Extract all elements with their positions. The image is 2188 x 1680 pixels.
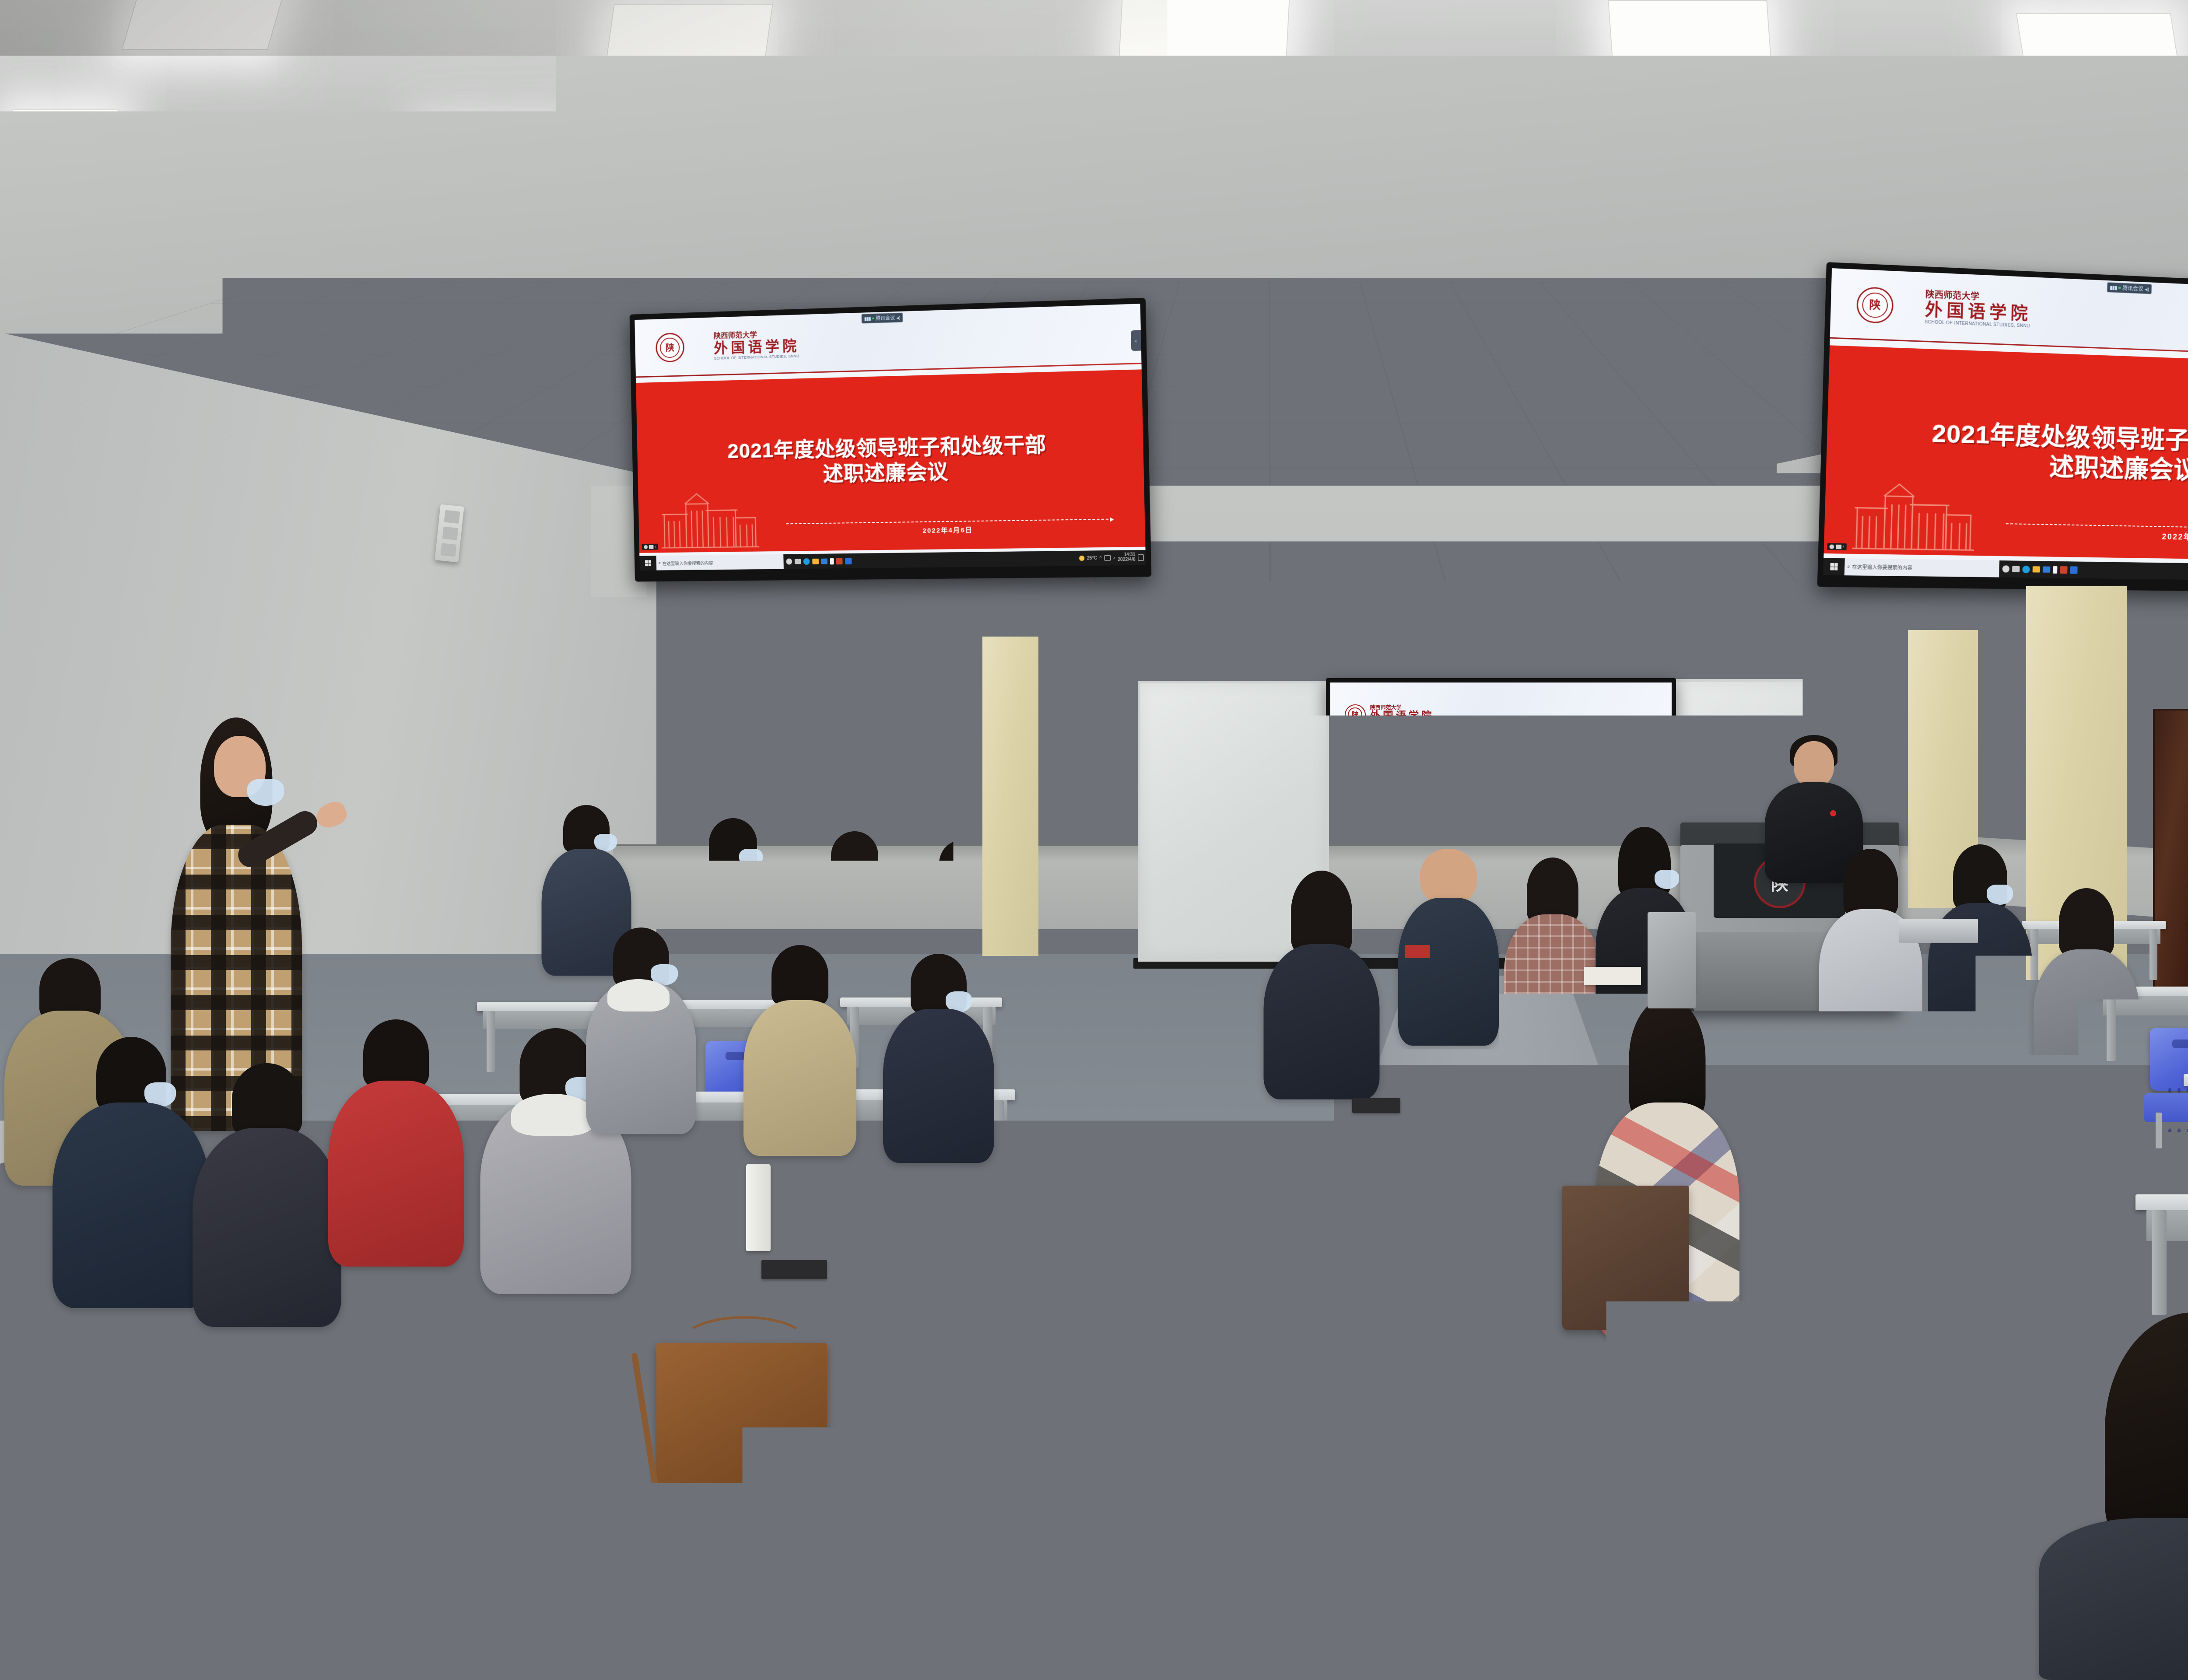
pen-icon[interactable]: [644, 545, 648, 549]
ceiling-light-panel: [1608, 0, 1772, 72]
status-dot: [2118, 287, 2121, 289]
powerpoint-icon[interactable]: [836, 558, 842, 564]
hair: [363, 1019, 429, 1087]
more-menu-icon[interactable]: ‹: [1843, 544, 1844, 549]
campus-building-illustration: [652, 480, 792, 549]
torso: [1136, 871, 1235, 1002]
tencent-meeting-indicator[interactable]: ▮▮▮ 腾讯会议 ◂): [2107, 282, 2152, 294]
slide-nav-arrow[interactable]: ‹: [1131, 330, 1141, 351]
lapel-pin: [1830, 810, 1836, 816]
ppt-presenter-controls[interactable]: ‹: [1332, 942, 1346, 947]
tv-mount-pole: [810, 254, 821, 311]
torso-pink-coat: [788, 1269, 1112, 1680]
system-tray[interactable]: 25°C ^: [1650, 955, 1672, 959]
taskbar-pinned-apps[interactable]: [783, 557, 854, 565]
attendee-seated: [1733, 1120, 1882, 1391]
face-mask: [1655, 870, 1679, 889]
mail-icon[interactable]: [1451, 955, 1456, 959]
university-seal-icon: 陕: [656, 332, 685, 363]
slide-title: 2021年度处级领导班子和处级干部 述职述廉会议: [727, 432, 1047, 488]
clock-numeral: 12: [1480, 594, 1487, 602]
dashed-arrow-divider: [786, 519, 1113, 525]
status-dot: [1493, 686, 1494, 688]
slide-body: 2021年度处级领导班子和处级干部 述职述廉会议: [1824, 339, 2188, 562]
hair: [939, 840, 985, 887]
search-icon: ⌕: [659, 560, 661, 565]
signal-bars-icon: ▮▮▮: [2110, 284, 2117, 291]
tencent-meeting-indicator[interactable]: ▮▮ 腾讯会议 ◂): [1486, 683, 1516, 691]
hair: [39, 958, 101, 1019]
hair: [1844, 849, 1898, 917]
desk: [2184, 1074, 2188, 1164]
torso: [1264, 944, 1380, 1099]
slide-date: 2022年4月6日: [2162, 531, 2188, 543]
laptop[interactable]: [1899, 919, 1978, 943]
torso: [2034, 949, 2139, 1095]
microphone-head: [1714, 778, 1755, 788]
board-rail-top: [1129, 667, 1871, 679]
mail-icon[interactable]: [2043, 567, 2051, 573]
attendee-foreground-right: [2030, 1312, 2188, 1680]
task-view-icon[interactable]: [1433, 955, 1438, 959]
more-menu-icon[interactable]: ‹: [655, 545, 656, 549]
attendee-with-backpack: [1580, 997, 1755, 1339]
speaker-icon: ◂): [2145, 286, 2149, 292]
wps-icon[interactable]: [845, 557, 852, 564]
document-paper: [516, 943, 600, 970]
sun-icon: [1650, 955, 1654, 959]
ceiling-light-panel: [1119, 0, 1290, 65]
tv-mount-pole: [2118, 227, 2130, 279]
attendee-foreground-pink: [783, 1063, 1116, 1680]
college-name-english: SCHOOL OF INTERNATIONAL STUDIES, SNNU: [1370, 722, 1434, 725]
ceiling-light-panel: [414, 131, 559, 190]
volume-icon[interactable]: ♪: [1113, 556, 1115, 560]
attendee-seated: [1816, 849, 1925, 1050]
seal-character: 陕: [666, 343, 675, 352]
signal-bars-icon: ▮▮▮: [864, 315, 871, 321]
network-icon[interactable]: [1666, 955, 1670, 959]
torso: [2039, 1518, 2188, 1680]
slide-header: 陕 陕西师范大学 外国语学院 SCHOOL OF INTERNATIONAL S…: [1330, 682, 1672, 747]
weather-temperature: 25°C: [1655, 955, 1662, 959]
edge-browser-icon[interactable]: [803, 558, 810, 565]
torso-cream: [1035, 878, 1131, 1007]
university-name: 陕西师范大学: [1370, 705, 1434, 710]
speaker-icon: ◂): [1510, 685, 1513, 689]
ceiling-light-panel: [603, 4, 773, 83]
search-input[interactable]: ⌕ 在这里输入你要搜索的内容: [1343, 951, 1425, 962]
attendee-seated: [1033, 822, 1133, 1006]
document-paper: [1584, 967, 1641, 985]
thermos-clear: [1002, 844, 1019, 901]
thunder-app-icon[interactable]: [2053, 566, 2058, 573]
chair: [2144, 1028, 2188, 1148]
hair: [2059, 888, 2114, 956]
edge-browser-icon[interactable]: [1439, 955, 1444, 959]
hair: [1629, 997, 1706, 1120]
taskbar-clock[interactable]: 14:31 2022/4/6: [1118, 553, 1136, 563]
pen-icon[interactable]: [1830, 544, 1834, 549]
desk: [2135, 1194, 2188, 1315]
thermos-white: [746, 1164, 771, 1251]
hair: [831, 831, 878, 880]
tv-bezel-left: ▮▮▮ 腾讯会议 ◂) 陕 陕西师范大学 外国语学院: [630, 298, 1152, 582]
college-logo: 陕 陕西师范大学 外国语学院 SCHOOL OF INTERNATIONAL S…: [656, 329, 800, 363]
slide-title-line1: 2021年度处级领导班子和处级干部: [1389, 827, 1613, 845]
speaker-icon: ◂): [896, 315, 900, 320]
college-name: 外国语学院: [1370, 711, 1434, 721]
ceiling-speaker: [1632, 634, 1655, 651]
weather-temperature: 25°C: [1087, 556, 1097, 560]
slide-date-block: 2022年4月6日: [2006, 523, 2188, 545]
seal-character: 陕: [1352, 711, 1358, 718]
cortana-icon[interactable]: [2002, 565, 2009, 572]
attendee-seated: [1260, 871, 1383, 1098]
tencent-meeting-label: 腾讯会议: [876, 314, 895, 322]
hair: [771, 945, 828, 1005]
clock-center-pin: [1482, 617, 1485, 620]
accent-panel-red: [1041, 643, 1094, 774]
windows-taskbar[interactable]: ⌕ 在这里输入你要搜索的内容: [1330, 951, 1672, 962]
handbag-handle: [680, 1316, 808, 1369]
slide-icon[interactable]: [1836, 544, 1841, 549]
wps-icon[interactable]: [1468, 955, 1473, 959]
tencent-meeting-label: 腾讯会议: [1495, 685, 1509, 689]
start-button[interactable]: [1330, 951, 1343, 962]
more-menu-icon[interactable]: ‹: [1343, 943, 1344, 946]
university-seal-icon: 陕: [1345, 704, 1366, 725]
tencent-meeting-label: 腾讯会议: [2122, 284, 2143, 293]
taskbar-pinned-apps[interactable]: [1425, 955, 1474, 959]
torso: [1737, 1203, 1877, 1391]
ppt-presenter-controls[interactable]: ‹: [642, 544, 658, 550]
file-explorer-icon[interactable]: [812, 558, 819, 564]
file-explorer-icon[interactable]: [1445, 955, 1450, 959]
ceiling-speaker: [1346, 637, 1368, 653]
torso: [1398, 898, 1499, 1046]
search-icon: ⌕: [1847, 564, 1850, 570]
slide-body: 2021年度处级领导班子和处级干部 述职述廉会议: [636, 364, 1145, 553]
hair: [1770, 1120, 1844, 1212]
hair: [1291, 871, 1352, 954]
windows-logo-icon: [1830, 563, 1837, 570]
start-button[interactable]: [639, 556, 656, 570]
dashed-arrow-divider: [2006, 523, 2188, 531]
torso: [2, 1540, 199, 1680]
pen: [1890, 1081, 1915, 1085]
thunder-app-icon[interactable]: [1457, 955, 1460, 959]
smartphone[interactable]: [1352, 1098, 1400, 1113]
document-paper: [464, 941, 506, 958]
file-explorer-icon[interactable]: [2032, 566, 2040, 572]
search-placeholder: 在这里输入你要搜索的内容: [1348, 955, 1385, 959]
face-mask: [1987, 885, 2013, 905]
task-view-icon[interactable]: [794, 559, 801, 564]
attendee-seated: [1133, 805, 1238, 1002]
hair-scrunchie: [1883, 1099, 1917, 1126]
accent-panel-red: [1720, 573, 1794, 672]
chevron-up-icon[interactable]: ^: [1100, 556, 1102, 560]
slide-date-block: 2022年4月6日: [786, 519, 1114, 537]
head: [1794, 741, 1834, 787]
mail-icon[interactable]: [821, 558, 828, 564]
hood-white: [607, 979, 670, 1011]
tv-screen-left: ▮▮▮ 腾讯会议 ◂) 陕 陕西师范大学 外国语学院: [635, 304, 1146, 570]
slide-date: 2022年4月6日: [922, 525, 973, 535]
powerpoint-icon[interactable]: [2060, 566, 2068, 574]
presentation-slide: ▮▮▮ 腾讯会议 ◂) 陕 陕西师范大学 外国语学院: [635, 304, 1146, 570]
system-tray[interactable]: 25°C ^ ♪ 14:31 2022/4/6: [1079, 553, 1146, 563]
windows-logo-icon: [645, 560, 651, 566]
campus-building-illustration: [1842, 468, 2013, 552]
start-button[interactable]: [1823, 558, 1845, 575]
ceiling-light-panel: [2016, 13, 2183, 87]
slide-icon[interactable]: [649, 545, 654, 549]
hair: [232, 1063, 302, 1135]
search-icon: ⌕: [1345, 955, 1347, 959]
face-mask: [247, 779, 284, 806]
search-input[interactable]: ⌕ 在这里输入你要搜索的内容: [656, 554, 784, 570]
signal-bars-icon: ▮▮: [1489, 685, 1492, 689]
wps-icon[interactable]: [2070, 566, 2078, 574]
clock-numeral: 3: [1502, 615, 1505, 622]
hair: [1161, 805, 1211, 882]
hair: [1527, 857, 1578, 923]
accent-panel-red: [1195, 575, 1267, 672]
ceiling-light-panel: [1617, 284, 1736, 330]
college-name: 外国语学院: [714, 339, 800, 355]
thunder-app-icon[interactable]: [830, 558, 834, 564]
conference-room-photo: ▮▮▮ 腾讯会议 ◂) 陕 陕西师范大学 外国语学院: [0, 0, 2188, 1680]
clock-numeral: 9: [1462, 615, 1465, 622]
search-placeholder: 在这里输入你要搜索的内容: [1852, 563, 1912, 571]
status-dot: [872, 317, 874, 319]
notepad: [917, 1519, 1034, 1575]
attendee-seated: [1925, 844, 2035, 1048]
college-logo: 陕 陕西师范大学 外国语学院 SCHOOL OF INTERNATIONAL S…: [1856, 287, 2032, 329]
ceiling-light-panel: [122, 0, 287, 50]
smartphone[interactable]: [761, 1260, 827, 1279]
powerpoint-icon[interactable]: [1462, 955, 1466, 959]
task-view-icon[interactable]: [2012, 566, 2020, 572]
sun-icon: [1079, 556, 1085, 561]
seal-character: 陕: [1869, 299, 1881, 311]
search-input[interactable]: ⌕ 在这里输入你要搜索的内容: [1844, 558, 1999, 577]
attendee-foreground-left: [0, 1339, 201, 1680]
cortana-icon[interactable]: [786, 558, 792, 564]
college-logo: 陕 陕西师范大学 外国语学院 SCHOOL OF INTERNATIONAL S…: [1345, 704, 1434, 725]
wall-clock: 12 3 6 9: [1451, 585, 1516, 651]
taskbar-pinned-apps[interactable]: [1999, 565, 2080, 574]
pen-icon[interactable]: [1335, 943, 1338, 946]
clock-date: 2022/4/6: [1118, 558, 1136, 563]
ppt-presenter-controls[interactable]: ‹: [1827, 543, 1847, 550]
university-seal-icon: 陕: [1856, 287, 1894, 324]
notification-icon[interactable]: [1138, 554, 1144, 560]
college-name: 外国语学院: [1925, 301, 2032, 322]
attendee-seated: [582, 927, 700, 1133]
tencent-meeting-indicator[interactable]: ▮▮▮ 腾讯会议 ◂): [862, 313, 903, 324]
backpack-brown: [1562, 1186, 1689, 1330]
search-placeholder: 在这里输入你要搜索的内容: [663, 559, 713, 566]
network-icon[interactable]: [1104, 555, 1111, 560]
edge-browser-icon[interactable]: [2022, 565, 2030, 573]
chevron-up-icon[interactable]: ^: [1663, 955, 1664, 959]
attendee-seated: [2030, 888, 2142, 1094]
hair: [28, 1339, 173, 1566]
tv-screen-right: ▮▮▮ 腾讯会议 ◂) 陕 陕西师范大学 外国语学院: [1823, 268, 2188, 582]
cortana-icon[interactable]: [1427, 955, 1432, 959]
windows-logo-icon: [1335, 955, 1339, 959]
presentation-slide: ▮▮▮ 腾讯会议 ◂) 陕 陕西师范大学 外国语学院: [1823, 268, 2188, 582]
tv-bezel-right: ▮▮▮ 腾讯会议 ◂) 陕 陕西师范大学 外国语学院: [1817, 262, 2188, 593]
head-balding: [1420, 849, 1477, 905]
slide-icon[interactable]: [1339, 943, 1342, 946]
